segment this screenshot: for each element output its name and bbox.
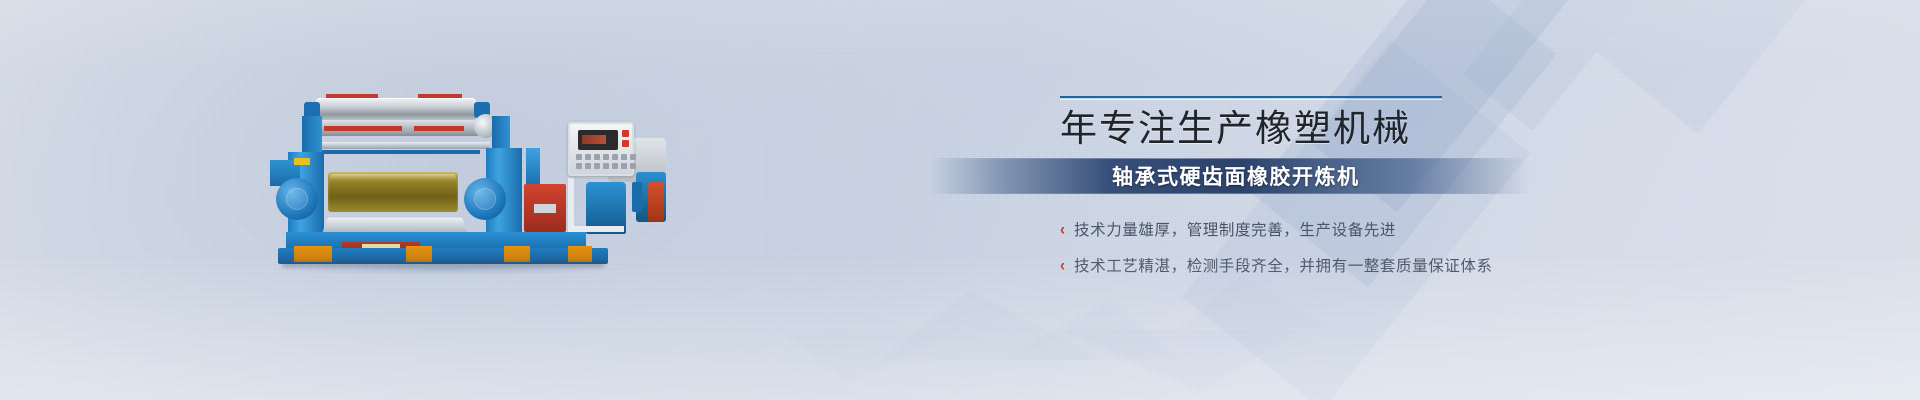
machine-red-bar-top-left [326,94,378,98]
hero-banner: 年专注生产橡塑机械 轴承式硬齿面橡胶开炼机 ‹ 技术力量雄厚，管理制度完善，生产… [0,0,1920,400]
banner-subtitle-bar: 轴承式硬齿面橡胶开炼机 [930,158,1530,194]
machine-button-row-1 [576,154,636,160]
bullet-text: 技术工艺精湛，检测手段齐全，并拥有一整套质量保证体系 [1074,254,1493,276]
machine-safety-tag [294,158,310,165]
chevron-left-icon: ‹ [1060,256,1065,275]
chevron-left-icon: ‹ [1060,220,1065,239]
machine-coupling-wheel [648,182,664,222]
machine-motor-cap [632,182,642,212]
machine-button-row-2 [576,163,636,169]
bullet-text: 技术力量雄厚，管理制度完善，生产设备先进 [1074,218,1396,240]
list-item: ‹ 技术力量雄厚，管理制度完善，生产设备先进 [1060,218,1760,240]
machine-roll-highlight [330,174,456,181]
machine-red-bar-right [414,126,464,131]
machine-cross-bar [312,142,490,149]
list-item: ‹ 技术工艺精湛，检测手段齐全，并拥有一整套质量保证体系 [1060,254,1760,276]
machine-red-bar-top-right [418,94,462,98]
headline-rule-highlight [1060,99,1442,100]
machine-indicator-led-1 [622,130,629,137]
headline-rule [1060,96,1442,98]
banner-text-column: 年专注生产橡塑机械 轴承式硬齿面橡胶开炼机 ‹ 技术力量雄厚，管理制度完善，生产… [1060,96,1760,290]
machine-foot-far-right [568,246,592,262]
machine-foot-right [504,246,530,262]
banner-headline: 年专注生产橡塑机械 [1060,108,1760,149]
banner-subtitle-text: 轴承式硬齿面橡胶开炼机 [1112,161,1360,191]
polygon-shape-4 [780,330,960,384]
machine-gearbox-label [534,204,556,213]
polygon-shape-2 [1000,300,1180,360]
machine-red-bar-left [324,126,402,131]
machine-indicator-led-2 [622,140,629,147]
machine-foot-left [294,246,332,262]
machine-cross-bar-blue [318,150,480,154]
machine-control-screen [578,130,618,150]
machine-top-roller [316,98,476,120]
product-image [268,86,664,270]
polygon-shape-1 [880,290,1100,360]
machine-base-shadow [282,262,604,267]
machine-bearing-right [464,178,506,220]
banner-bullet-list: ‹ 技术力量雄厚，管理制度完善，生产设备先进 ‹ 技术工艺精湛，检测手段齐全，并… [1060,218,1760,276]
machine-riser [526,148,540,188]
machine-bearing-left [276,178,318,220]
machine-foot-middle [406,246,432,262]
polygon-shape-3 [1060,330,1300,392]
